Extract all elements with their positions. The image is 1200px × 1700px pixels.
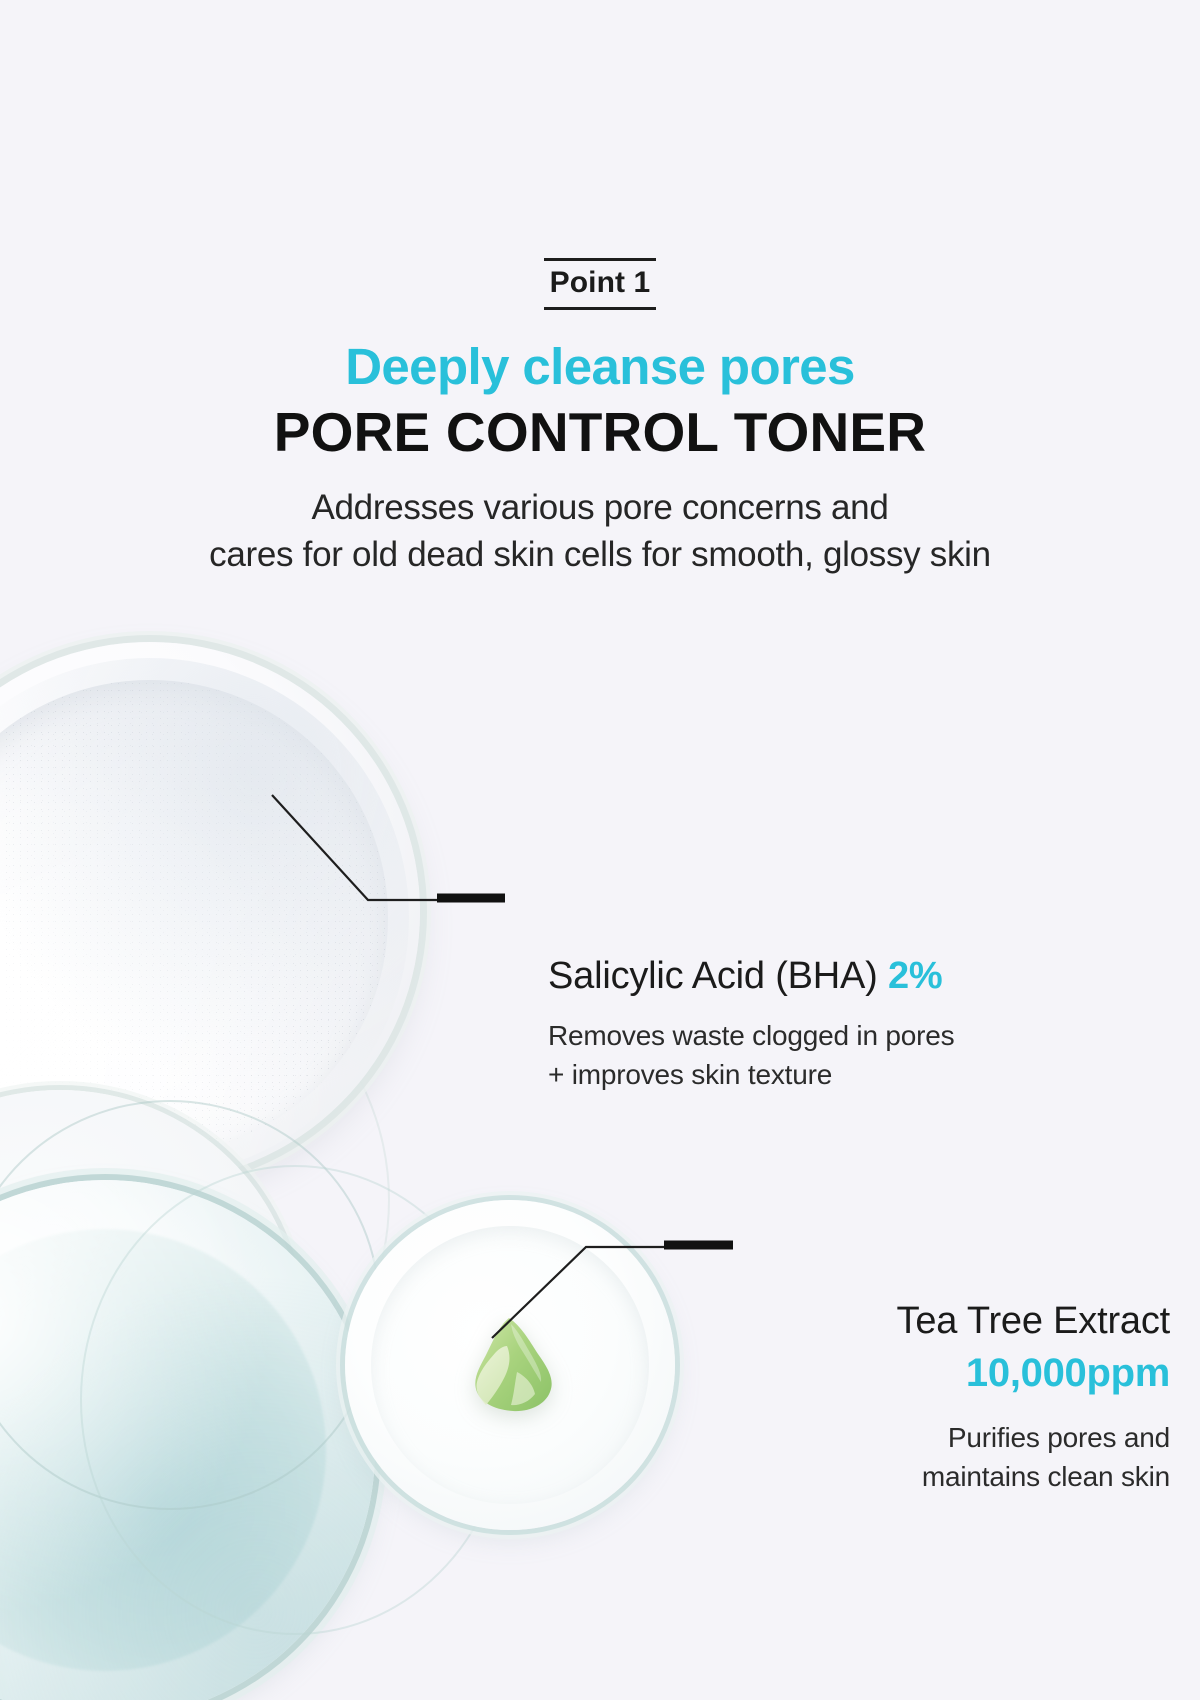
subcopy-line-2: cares for old dead skin cells for smooth… [0, 532, 1200, 578]
callout-desc-line-2: maintains clean skin [570, 1457, 1170, 1497]
headline-accent: Deeply cleanse pores [0, 340, 1200, 394]
callout-desc-line-1: Purifies pores and [570, 1418, 1170, 1458]
callout-ingredient-name: Salicylic Acid (BHA) [548, 955, 878, 997]
callout-description-salicylic: Removes waste clogged in pores + improve… [548, 1016, 1148, 1096]
page-title: PORE CONTROL TONER [0, 403, 1200, 461]
product-imagery-scene [0, 620, 1200, 1700]
green-gel-dollop [455, 1310, 573, 1428]
callout-desc-line-1: Removes waste clogged in pores [548, 1016, 1148, 1056]
callout-salicylic-acid: Salicylic Acid (BHA) 2% Removes waste cl… [548, 955, 1148, 1095]
subcopy-line-1: Addresses various pore concerns and [0, 485, 1200, 531]
callout-ingredient-value: 2% [888, 955, 943, 997]
header-block: Point 1 Deeply cleanse pores PORE CONTRO… [0, 0, 1200, 578]
subcopy-block: Addresses various pore concerns and care… [0, 485, 1200, 577]
powder-texture [0, 680, 388, 1155]
point-badge: Point 1 [544, 258, 657, 310]
callout-desc-line-2: + improves skin texture [548, 1055, 1148, 1095]
callout-description-tea-tree: Purifies pores and maintains clean skin [570, 1418, 1170, 1498]
product-detail-page: Point 1 Deeply cleanse pores PORE CONTRO… [0, 0, 1200, 1700]
callout-tea-tree: Tea Tree Extract 10,000ppm Purifies pore… [570, 1300, 1170, 1497]
callout-amount-tea-tree: 10,000ppm [570, 1350, 1170, 1396]
callout-title-tea-tree: Tea Tree Extract [570, 1300, 1170, 1344]
callout-title-salicylic: Salicylic Acid (BHA) 2% [548, 955, 1148, 999]
